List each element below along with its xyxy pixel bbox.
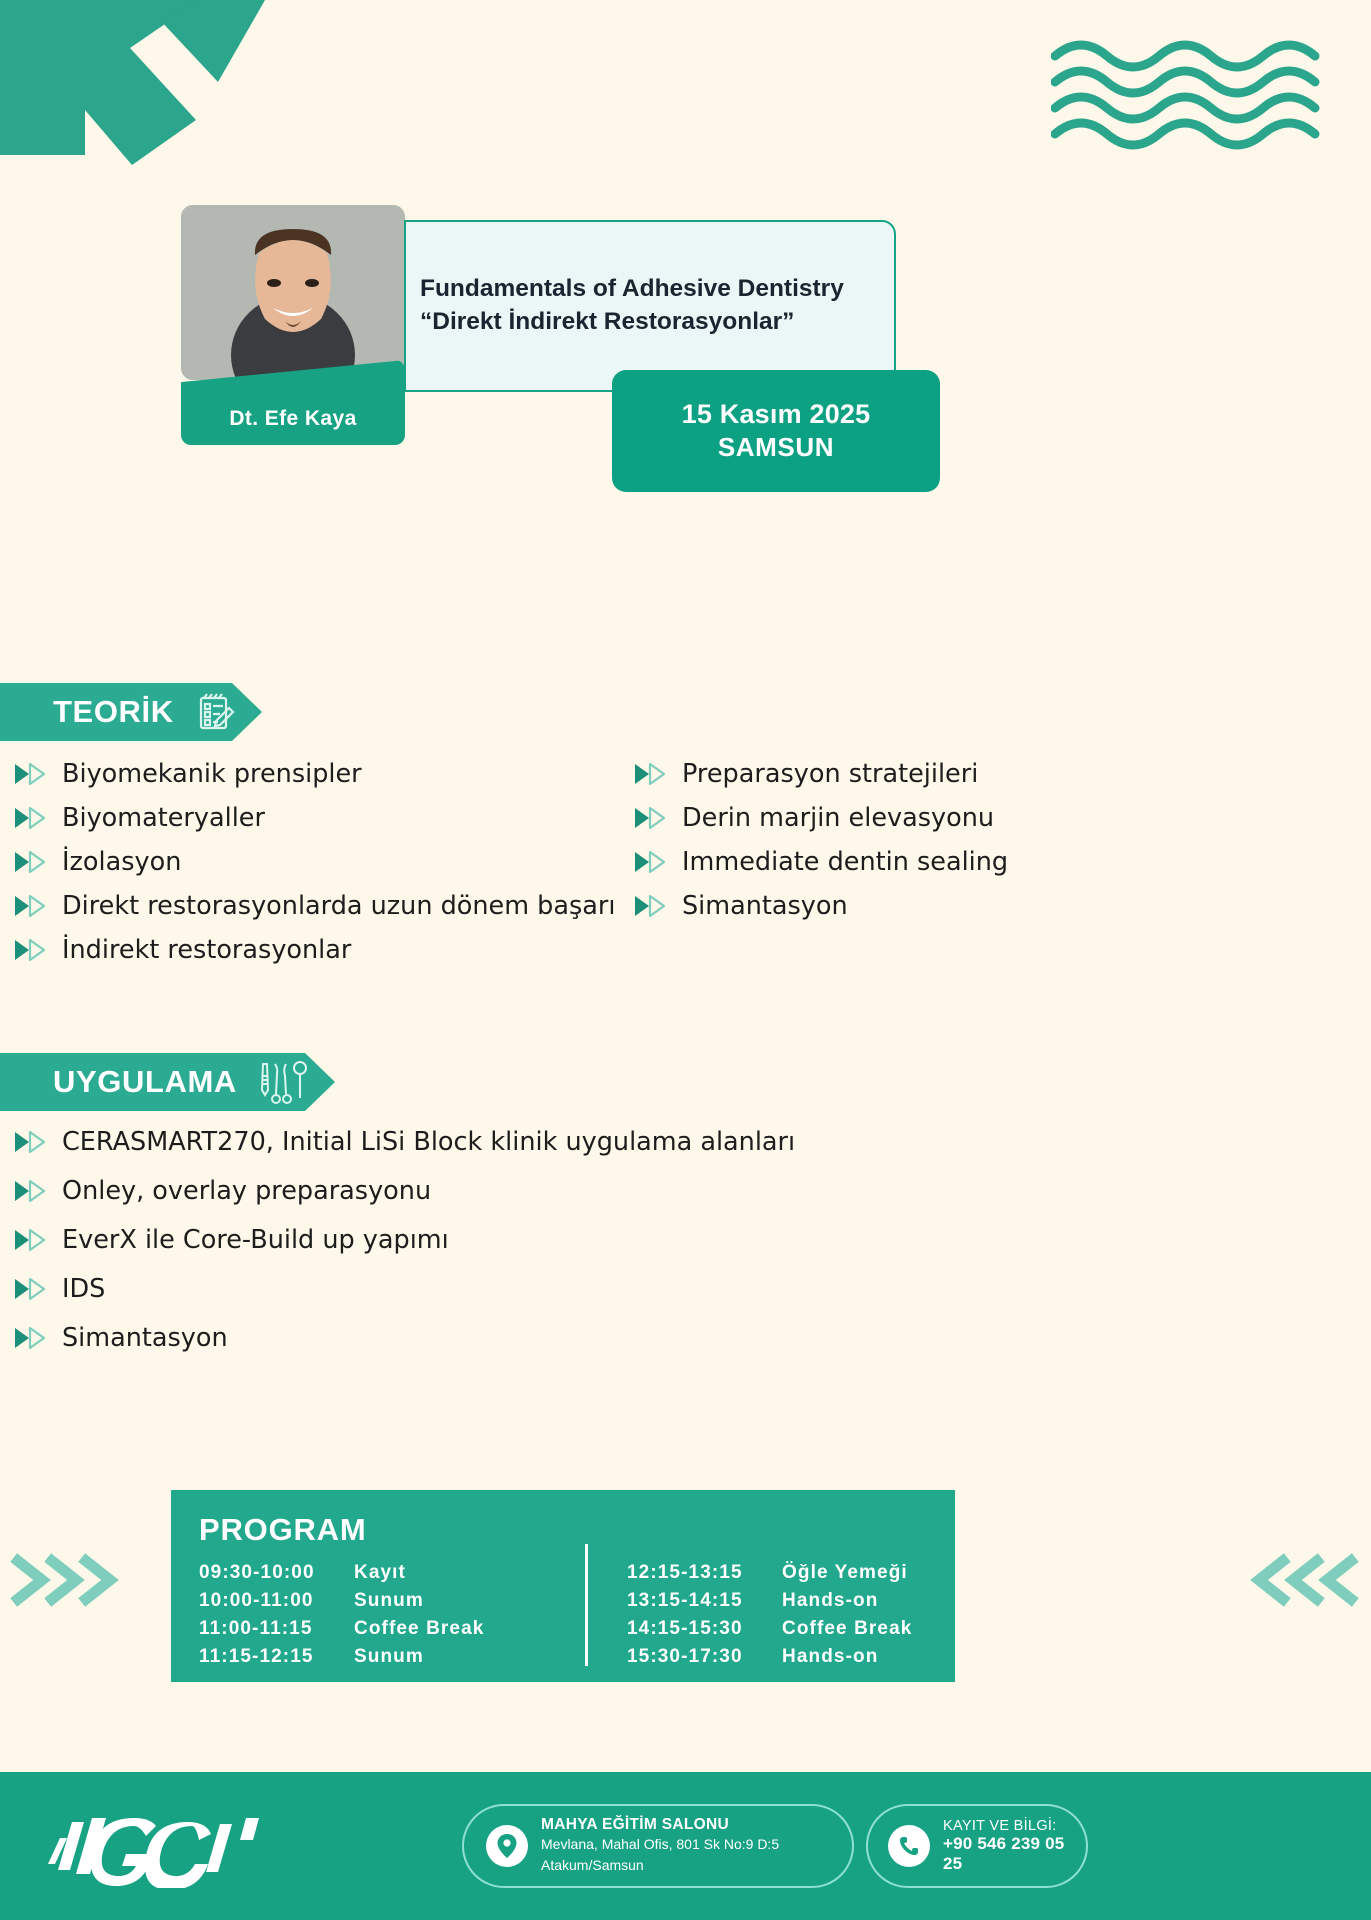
list-item: Onley, overlay preparasyonu [14,1177,914,1205]
section-title-teorik: TEORİK [53,694,174,730]
clipboard-pencil-icon [192,689,238,735]
list-item: Biyomateryaller [14,804,634,832]
program-row: 15:30-17:30Hands-on [627,1646,915,1668]
program-label: Sunum [354,1590,424,1612]
double-chevron-icon [14,851,48,873]
list-item-label: EverX ile Core-Build up yapımı [62,1226,449,1254]
program-label: Coffee Break [354,1618,484,1640]
title-card: Fundamentals of Adhesive Dentistry “Dire… [404,220,896,392]
teorik-list-left: Biyomekanik prensiplerBiyomateryallerİzo… [14,760,634,980]
program-time: 12:15-13:15 [627,1562,782,1584]
list-item-label: Derin marjin elevasyonu [682,804,994,832]
list-item: İndirekt restorasyonlar [14,936,634,964]
double-chevron-icon [14,1131,48,1153]
hero-section: Dt. Efe Kaya Fundamentals of Adhesive De… [0,195,1371,515]
list-item-label: Biyomateryaller [62,804,265,832]
program-label: Hands-on [782,1590,878,1612]
program-column-left: 09:30-10:00Kayıt10:00-11:00Sunum11:00-11… [199,1562,555,1668]
double-chevron-icon [14,1180,48,1202]
list-item-label: Immediate dentin sealing [682,848,1008,876]
course-title-line2: “Direkt İndirekt Restorasyonlar” [420,306,874,339]
list-item-label: İzolasyon [62,848,181,876]
poster-root: Dt. Efe Kaya Fundamentals of Adhesive De… [0,0,1371,1920]
double-chevron-icon [634,763,668,785]
course-title-line1: Fundamentals of Adhesive Dentistry [420,273,874,306]
double-chevron-icon [14,763,48,785]
location-pin-icon [486,1825,528,1867]
program-time: 15:30-17:30 [627,1646,782,1668]
list-item: Simantasyon [634,892,1274,920]
double-chevron-icon [634,807,668,829]
decorative-chevrons-right [1241,1545,1361,1615]
program-row: 10:00-11:00Sunum [199,1590,555,1612]
double-chevron-icon [634,851,668,873]
double-chevron-icon [634,807,668,829]
double-chevron-icon [14,895,48,917]
program-time: 11:00-11:15 [199,1618,354,1640]
date-location-card: 15 Kasım 2025 SAMSUN [612,370,940,492]
list-item-label: Preparasyon stratejileri [682,760,978,788]
list-item: CERASMART270, Initial LiSi Block klinik … [14,1128,914,1156]
list-item-label: Simantasyon [682,892,848,920]
program-time: 10:00-11:00 [199,1590,354,1612]
program-title: PROGRAM [199,1512,955,1548]
list-item-label: Simantasyon [62,1324,228,1352]
program-row: 11:15-12:15Sunum [199,1646,555,1668]
list-item: Derin marjin elevasyonu [634,804,1274,832]
double-chevron-icon [14,895,48,917]
dental-instruments-icon [255,1058,309,1106]
list-item: IDS [14,1275,914,1303]
contact-text: KAYIT VE BİLGİ: +90 546 239 05 25 [943,1818,1086,1874]
program-time: 14:15-15:30 [627,1618,782,1640]
program-divider [585,1544,588,1666]
list-item: Immediate dentin sealing [634,848,1274,876]
event-city: SAMSUN [718,432,834,463]
venue-info-box: MAHYA EĞİTİM SALONU Mevlana, Mahal Ofis,… [462,1804,854,1888]
venue-name: MAHYA EĞİTİM SALONU [541,1816,779,1834]
program-time: 11:15-12:15 [199,1646,354,1668]
double-chevron-icon [14,1278,48,1300]
list-item: Direkt restorasyonlarda uzun dönem başar… [14,892,634,920]
decorative-waves [1051,40,1371,150]
program-column-right: 12:15-13:15Öğle Yemeği13:15-14:15Hands-o… [555,1562,915,1668]
double-chevron-icon [14,1327,48,1349]
program-time: 13:15-14:15 [627,1590,782,1612]
section-banner-uygulama: UYGULAMA [0,1053,335,1111]
list-item-label: IDS [62,1275,105,1303]
program-row: 12:15-13:15Öğle Yemeği [627,1562,915,1584]
double-chevron-icon [14,1278,48,1300]
speaker-photo [181,205,405,380]
double-chevron-icon [14,1180,48,1202]
double-chevron-icon [14,1229,48,1251]
double-chevron-icon [634,895,668,917]
speaker-name: Dt. Efe Kaya [229,407,356,431]
section-banner-teorik: TEORİK [0,683,262,741]
program-time: 09:30-10:00 [199,1562,354,1584]
list-item: Biyomekanik prensipler [14,760,634,788]
program-row: 09:30-10:00Kayıt [199,1562,555,1584]
list-item-label: İndirekt restorasyonlar [62,936,351,964]
double-chevron-icon [14,1229,48,1251]
double-chevron-icon [14,763,48,785]
decorative-arrow-shape [0,0,300,200]
teorik-list-right: Preparasyon stratejileriDerin marjin ele… [634,760,1274,936]
program-row: 13:15-14:15Hands-on [627,1590,915,1612]
list-item-label: CERASMART270, Initial LiSi Block klinik … [62,1128,795,1156]
list-item-label: Biyomekanik prensipler [62,760,362,788]
list-item: EverX ile Core-Build up yapımı [14,1226,914,1254]
double-chevron-icon [14,807,48,829]
list-item: Preparasyon stratejileri [634,760,1274,788]
program-block: PROGRAM 09:30-10:00Kayıt10:00-11:00Sunum… [171,1490,955,1682]
list-item-label: Onley, overlay preparasyonu [62,1177,431,1205]
program-label: Hands-on [782,1646,878,1668]
program-label: Sunum [354,1646,424,1668]
venue-address-line1: Mevlana, Mahal Ofis, 801 Sk No:9 D:5 [541,1834,779,1855]
double-chevron-icon [634,895,668,917]
contact-label: KAYIT VE BİLGİ: [943,1818,1086,1834]
double-chevron-icon [14,851,48,873]
phone-icon [888,1825,930,1867]
program-row: 11:00-11:15Coffee Break [199,1618,555,1640]
double-chevron-icon [14,939,48,961]
footer-bar: MAHYA EĞİTİM SALONU Mevlana, Mahal Ofis,… [0,1772,1371,1920]
section-title-uygulama: UYGULAMA [53,1064,237,1100]
program-label: Kayıt [354,1562,406,1584]
program-row: 14:15-15:30Coffee Break [627,1618,915,1640]
list-item: İzolasyon [14,848,634,876]
contact-phone: +90 546 239 05 25 [943,1834,1086,1874]
uygulama-list: CERASMART270, Initial LiSi Block klinik … [14,1128,914,1373]
event-date: 15 Kasım 2025 [682,399,871,430]
venue-text: MAHYA EĞİTİM SALONU Mevlana, Mahal Ofis,… [541,1816,779,1876]
gc-logo [42,1804,332,1888]
venue-address-line2: Atakum/Samsun [541,1855,779,1876]
contact-info-box[interactable]: KAYIT VE BİLGİ: +90 546 239 05 25 [866,1804,1088,1888]
double-chevron-icon [634,851,668,873]
list-item: Simantasyon [14,1324,914,1352]
list-item-label: Direkt restorasyonlarda uzun dönem başar… [62,892,615,920]
double-chevron-icon [14,939,48,961]
program-columns: 09:30-10:00Kayıt10:00-11:00Sunum11:00-11… [199,1562,955,1668]
double-chevron-icon [634,763,668,785]
double-chevron-icon [14,807,48,829]
decorative-chevrons-left [8,1545,128,1615]
program-label: Coffee Break [782,1618,912,1640]
program-label: Öğle Yemeği [782,1562,908,1584]
double-chevron-icon [14,1131,48,1153]
double-chevron-icon [14,1327,48,1349]
